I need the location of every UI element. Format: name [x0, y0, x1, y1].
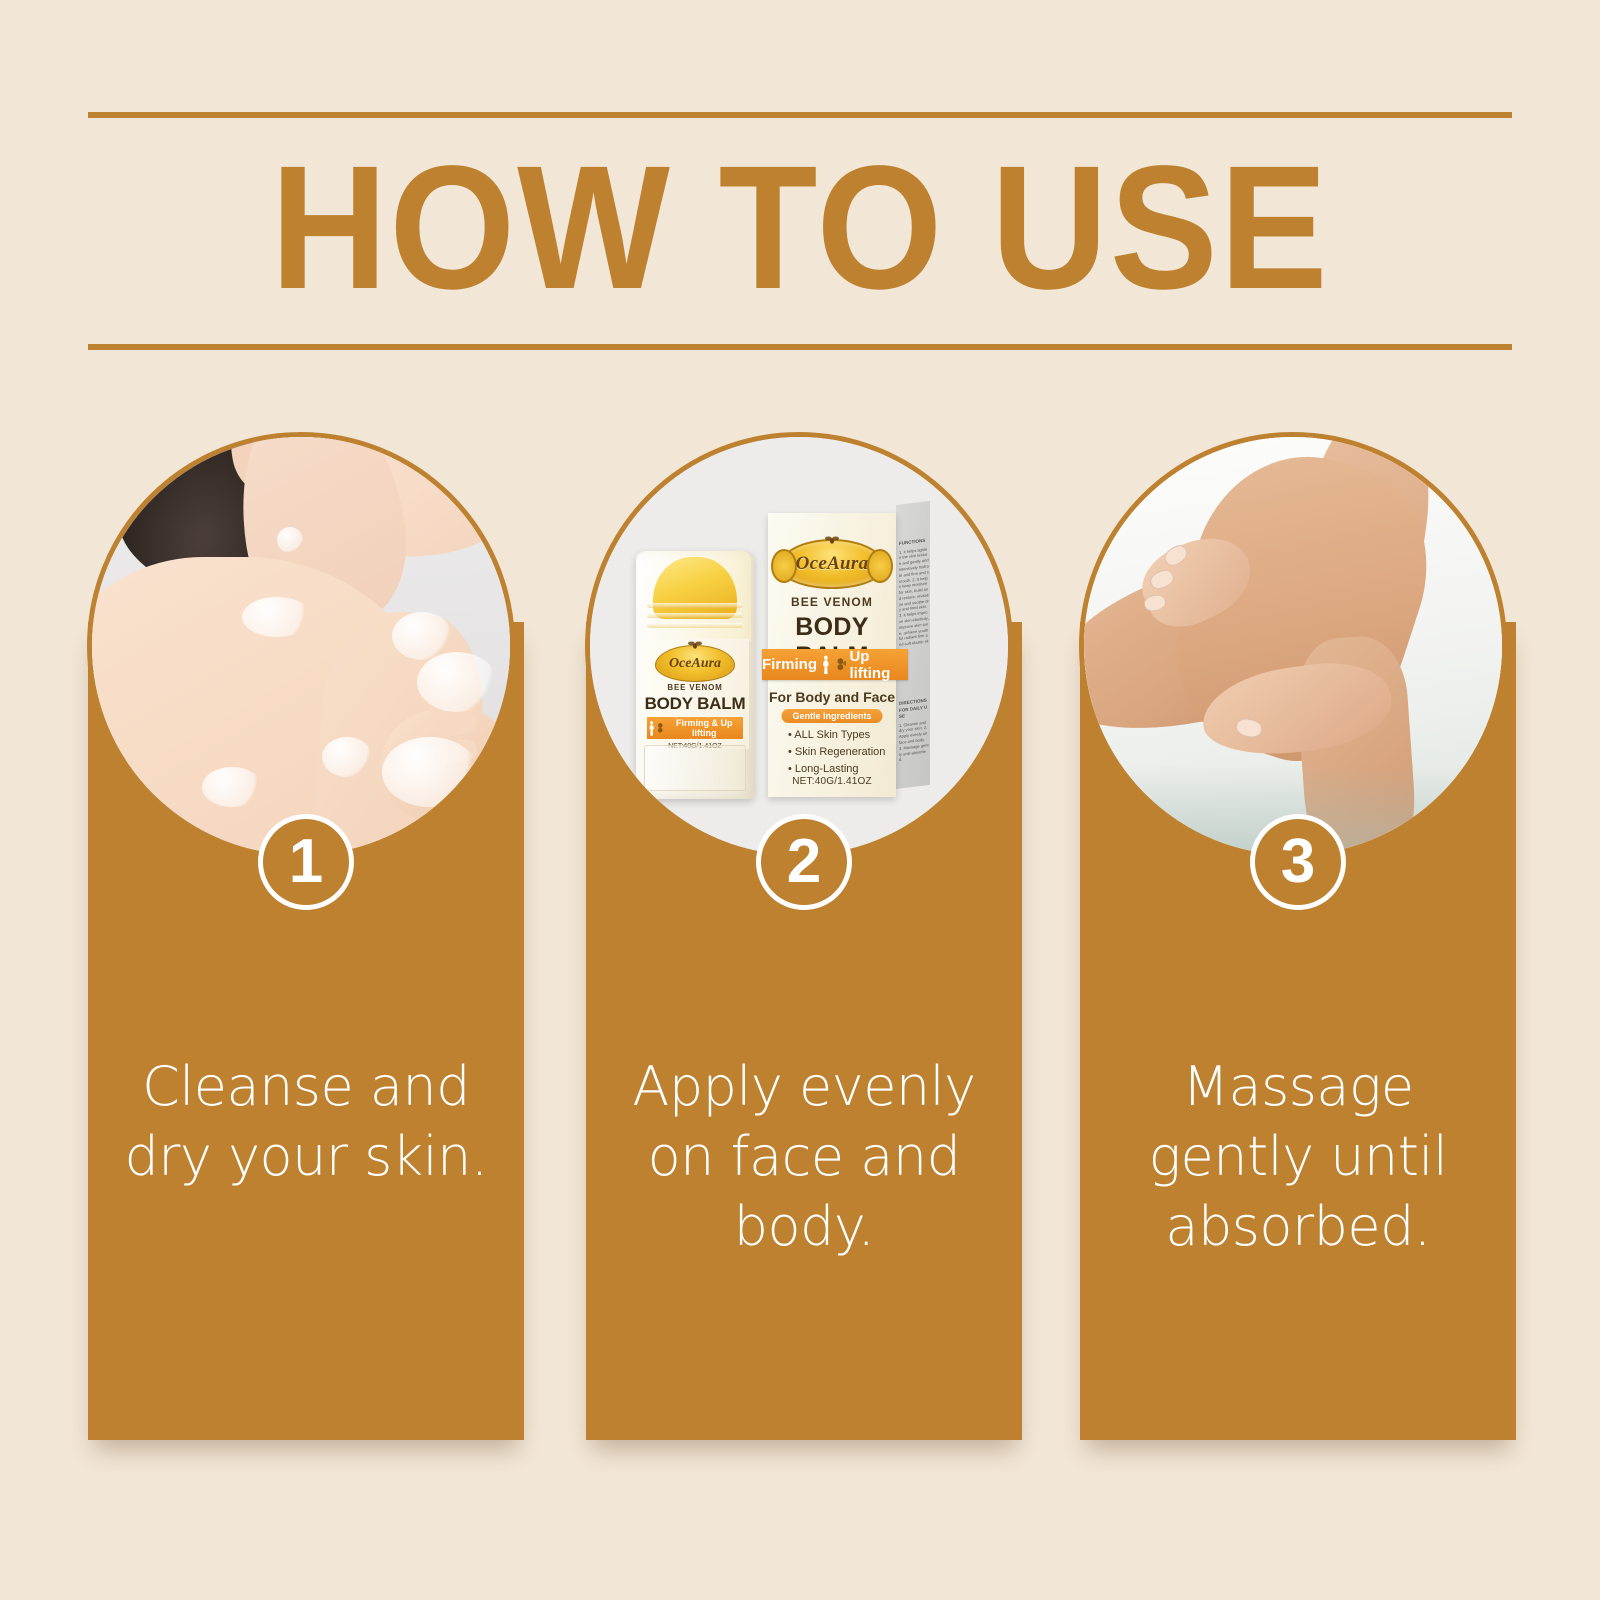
step-card-1: 1 Cleanse and dry your skin. — [88, 622, 524, 1440]
bullet-item: • Skin Regeneration — [788, 744, 885, 761]
photo-cleanse-illustration — [92, 437, 510, 855]
product-box-front: OceAura BEE VENOM BODY BALM Firming — [768, 513, 896, 797]
step-2-photo: FUNCTIONS 1. It helps tighten the skin t… — [585, 432, 1013, 860]
stick-brand-logo: OceAura — [655, 645, 735, 682]
product-box: FUNCTIONS 1. It helps tighten the skin t… — [768, 505, 928, 797]
step-3-photo — [1079, 432, 1507, 860]
step-number-badge-1: 1 — [258, 814, 354, 910]
band-right-label: Up lifting — [849, 648, 908, 682]
product-net-weight: NET:40G/1.41OZ — [768, 776, 896, 787]
photo-massage-illustration — [1084, 437, 1502, 855]
stick-brand-name: OceAura — [669, 656, 721, 672]
photo-product-illustration: FUNCTIONS 1. It helps tighten the skin t… — [590, 437, 1008, 855]
body-silhouette-icon — [647, 720, 656, 737]
stick-benefit-band: Long Lasting Moisturizing Skin Regenerat… — [647, 717, 743, 739]
stick-sub: Gentle Ingredients — [666, 738, 743, 742]
step-1-photo — [87, 432, 515, 860]
body-silhouette-icon — [820, 654, 832, 676]
step-caption-2: Apply evenly on face and body. — [604, 1052, 1004, 1263]
step-number-badge-3: 3 — [1250, 814, 1346, 910]
step-number-badge-2: 2 — [756, 814, 852, 910]
stick-product-line: BEE VENOM — [641, 683, 749, 692]
honeycomb-icon — [835, 654, 847, 676]
honeycomb-icon — [656, 720, 665, 737]
steps-row: 1 Cleanse and dry your skin. FUNCTIONS 1… — [0, 0, 1600, 1600]
stick-cap — [639, 551, 751, 641]
product-stick: OceAura BEE VENOM BODY BALM — [636, 551, 754, 799]
stick-base — [644, 745, 746, 791]
stick-product-name: BODY BALM — [641, 694, 749, 714]
product-bullets: • ALL Skin Types • Skin Regeneration • L… — [788, 727, 885, 778]
product-for-line: For Body and Face — [768, 689, 896, 705]
product-group: FUNCTIONS 1. It helps tighten the skin t… — [618, 495, 990, 805]
step-card-3: 3 Massage gently until absorbed. — [1080, 622, 1516, 1440]
step-caption-3: Massage gently until absorbed. — [1098, 1052, 1498, 1263]
bee-icon — [687, 640, 703, 649]
box-side-functions: FUNCTIONS 1. It helps tighten the skin t… — [899, 537, 929, 654]
stick-band-label: Firming & Up lifting — [676, 718, 733, 738]
brand-logo-badge: OceAura — [779, 539, 885, 589]
band-left-label: Firming — [762, 656, 817, 673]
product-benefit-band: Firming Up lifting — [762, 649, 908, 680]
bullet-item: • ALL Skin Types — [788, 727, 885, 744]
brand-name: OceAura — [796, 553, 869, 575]
balm-surface — [653, 557, 737, 619]
box-side-directions: DIRECTIONS FOR DAILY USE 1. Cleanse and … — [899, 697, 929, 763]
step-caption-1: Cleanse and dry your skin. — [106, 1052, 506, 1192]
bee-icon — [824, 535, 840, 544]
gentle-ingredients-pill: Gentle Ingredients — [781, 709, 882, 723]
product-line: BEE VENOM — [768, 595, 896, 609]
step-card-2: FUNCTIONS 1. It helps tighten the skin t… — [586, 622, 1022, 1440]
stick-label: OceAura BEE VENOM BODY BALM — [641, 639, 749, 749]
